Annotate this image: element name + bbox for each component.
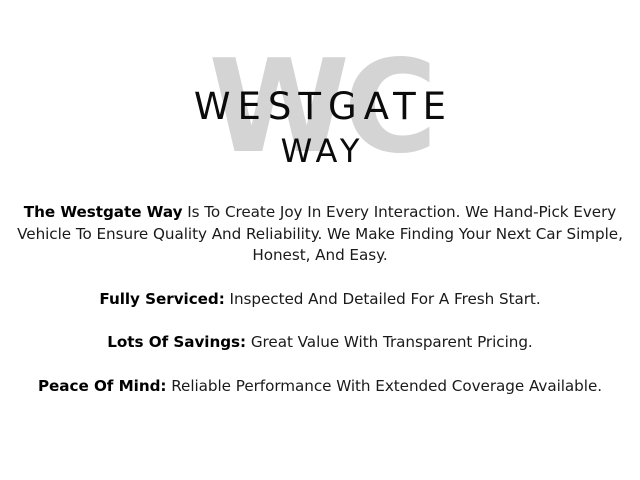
paragraph-rest: Reliable Performance With Extended Cover…: [166, 377, 602, 395]
paragraph-mission: The Westgate Way Is To Create Joy In Eve…: [12, 202, 628, 267]
paragraph-lead: Fully Serviced:: [99, 290, 224, 308]
paragraph-fully-serviced: Fully Serviced: Inspected And Detailed F…: [12, 289, 628, 311]
paragraph-lead: Lots Of Savings:: [107, 333, 246, 351]
promo-panel: WC WESTGATE WAY The Westgate Way Is To C…: [0, 0, 640, 480]
paragraph-lead: The Westgate Way: [24, 203, 183, 221]
paragraph-rest: Inspected And Detailed For A Fresh Start…: [225, 290, 541, 308]
paragraph-rest: Great Value With Transparent Pricing.: [246, 333, 533, 351]
value-proposition-copy: The Westgate Way Is To Create Joy In Eve…: [12, 202, 628, 397]
paragraph-lead: Peace Of Mind:: [38, 377, 166, 395]
brand-submark: WAY: [0, 134, 640, 168]
brand-wordmark: WESTGATE: [0, 88, 640, 126]
paragraph-lots-of-savings: Lots Of Savings: Great Value With Transp…: [12, 332, 628, 354]
brand-logo: WC WESTGATE WAY: [0, 0, 640, 190]
paragraph-peace-of-mind: Peace Of Mind: Reliable Performance With…: [12, 376, 628, 398]
